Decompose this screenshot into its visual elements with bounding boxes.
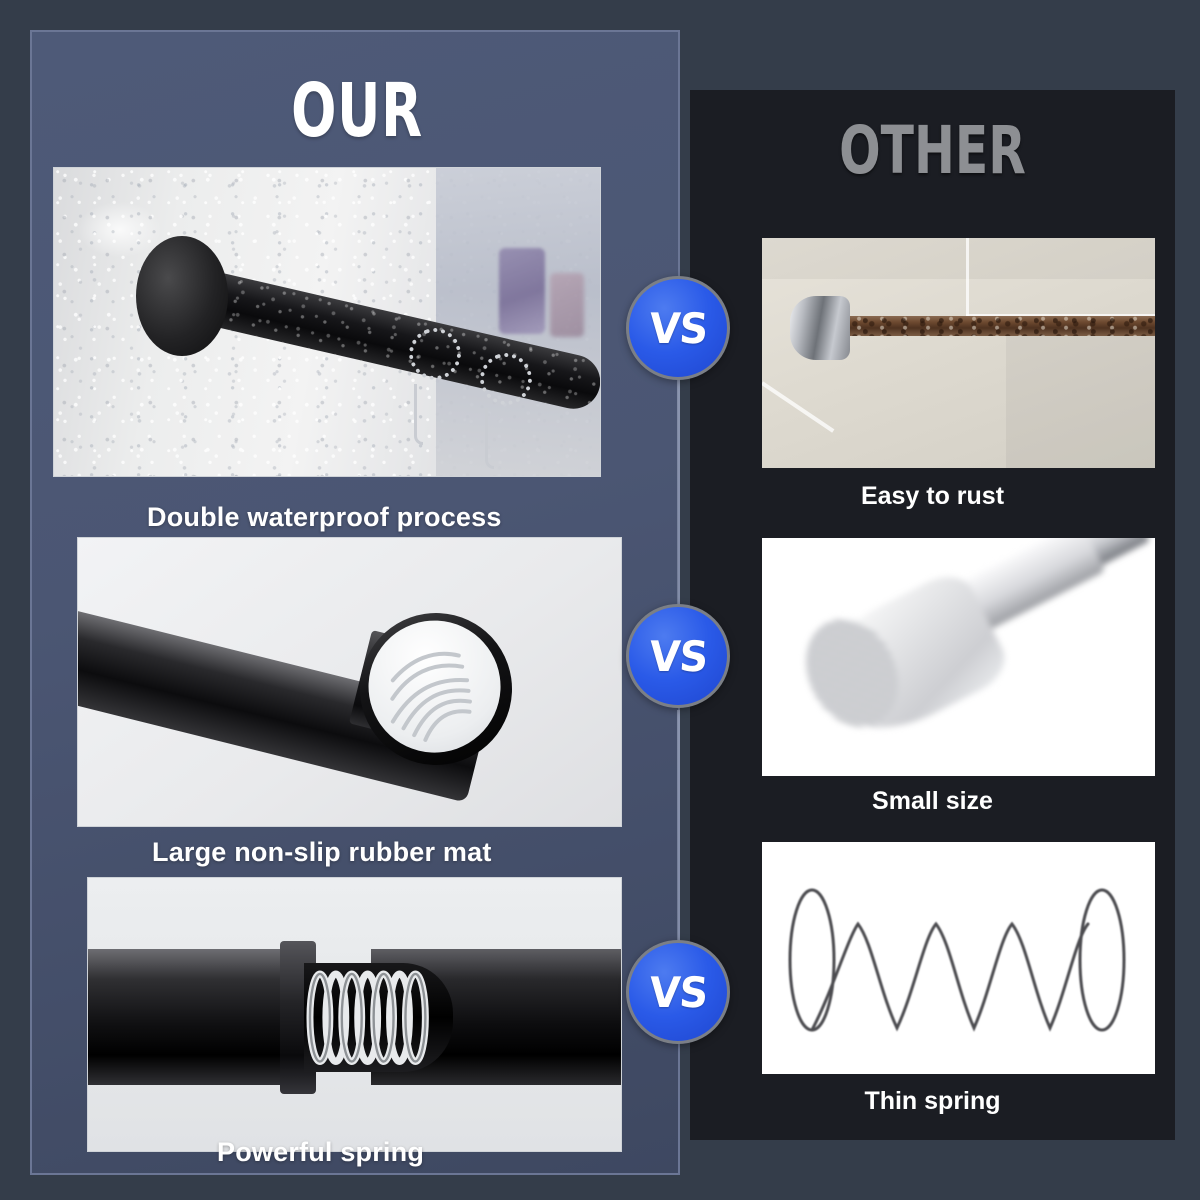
other-caption-easy-to-rust: Easy to rust	[690, 482, 1175, 511]
vs-badge: VS	[626, 276, 730, 380]
other-image-thin-spring	[762, 842, 1155, 1074]
vs-connector-line	[677, 380, 680, 610]
our-caption-powerful-spring: Powerful spring	[217, 1137, 424, 1168]
vs-badge-label: VS	[648, 632, 709, 681]
other-caption-thin-spring: Thin spring	[690, 1087, 1175, 1116]
other-panel-title: OTHER	[753, 118, 1112, 184]
vs-badge-label: VS	[648, 968, 709, 1017]
our-panel-title: OUR	[123, 74, 591, 148]
other-caption-small-size: Small size	[690, 787, 1175, 816]
our-image-double-waterproof-process	[53, 167, 601, 477]
our-caption-large-non-slip-rubber-mat: Large non-slip rubber mat	[152, 837, 492, 868]
our-caption-double-waterproof-process: Double waterproof process	[147, 502, 502, 533]
vs-badge-label: VS	[648, 304, 709, 353]
vs-connector-line	[677, 710, 680, 945]
our-panel: OUR Double waterproof process	[30, 30, 680, 1175]
vs-badge: VS	[626, 604, 730, 708]
other-panel: OTHER Easy to rust	[690, 90, 1175, 1140]
other-image-easy-to-rust	[762, 238, 1155, 468]
vs-badge: VS	[626, 940, 730, 1044]
comparison-infographic: OTHER Easy to rust	[0, 0, 1200, 1200]
other-image-small-size	[762, 538, 1155, 776]
our-image-large-non-slip-rubber-mat	[77, 537, 622, 827]
our-image-powerful-spring	[87, 877, 622, 1152]
